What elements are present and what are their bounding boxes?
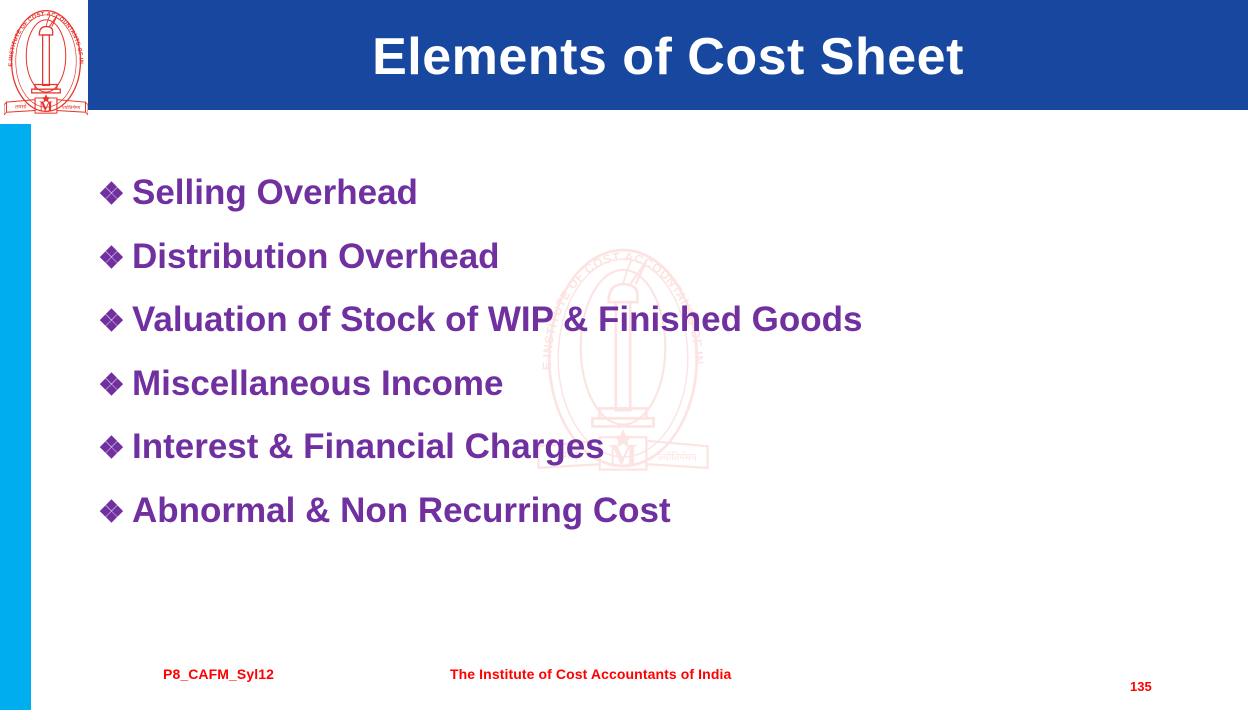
list-item-label: Abnormal & Non Recurring Cost	[132, 480, 671, 542]
list-item: ❖ Selling Overhead	[98, 162, 1158, 226]
diamond-bullet-icon: ❖	[98, 355, 132, 417]
list-item-label: Interest & Financial Charges	[132, 416, 605, 478]
diamond-bullet-icon: ❖	[98, 164, 132, 226]
footer-course-code: P8_CAFM_Syl12	[163, 666, 274, 682]
diamond-bullet-icon: ❖	[98, 228, 132, 290]
footer-organization: The Institute of Cost Accountants of Ind…	[450, 666, 731, 682]
page-number: 135	[1130, 679, 1152, 694]
svg-text:ज्योतिर्गमय: ज्योतिर्गमय	[62, 104, 81, 110]
list-item-label: Miscellaneous Income	[132, 353, 504, 415]
svg-text:तमसो: तमसो	[15, 103, 27, 110]
svg-text:M: M	[39, 99, 53, 115]
list-item-label: Valuation of Stock of WIP & Finished Goo…	[132, 289, 863, 351]
diamond-bullet-icon: ❖	[98, 482, 132, 544]
list-item: ❖ Abnormal & Non Recurring Cost	[98, 480, 1158, 544]
diamond-bullet-icon: ❖	[98, 291, 132, 353]
icai-logo: THE INSTITUTE OF COST ACCOUNTANTS OF IND…	[4, 2, 88, 120]
list-item: ❖ Miscellaneous Income	[98, 353, 1158, 417]
bullet-list: ❖ Selling Overhead ❖ Distribution Overhe…	[98, 162, 1158, 543]
diamond-bullet-icon: ❖	[98, 418, 132, 480]
list-item-label: Distribution Overhead	[132, 226, 500, 288]
list-item: ❖ Distribution Overhead	[98, 226, 1158, 290]
presentation-slide: Elements of Cost Sheet THE INSTITUTE OF …	[0, 0, 1248, 720]
left-accent-stripe	[0, 124, 31, 710]
list-item-label: Selling Overhead	[132, 162, 418, 224]
list-item: ❖ Interest & Financial Charges	[98, 416, 1158, 480]
page-title: Elements of Cost Sheet	[88, 18, 1248, 96]
list-item: ❖ Valuation of Stock of WIP & Finished G…	[98, 289, 1158, 353]
